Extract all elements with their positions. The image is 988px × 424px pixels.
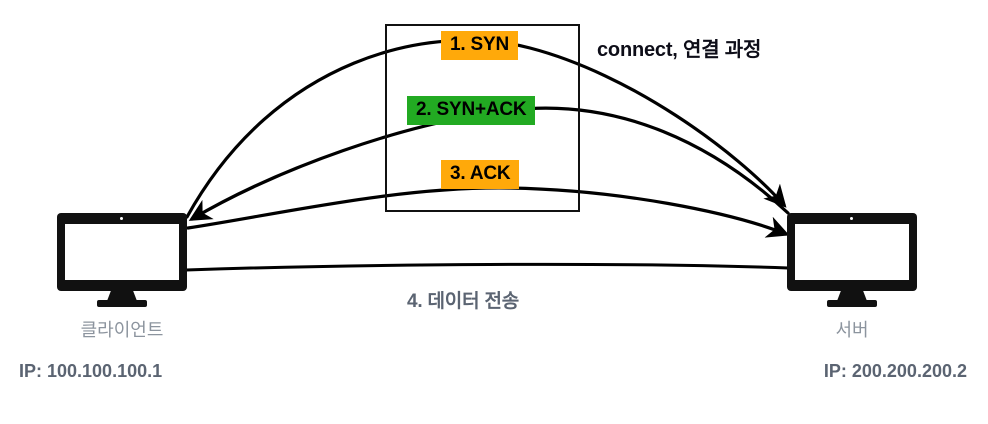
camera-dot-icon (850, 217, 853, 220)
desktop-monitor-icon (787, 213, 917, 305)
monitor-bezel (57, 213, 187, 291)
step-label-ack: 3. ACK (441, 160, 519, 189)
step-label-syn-ack: 2. SYN+ACK (407, 96, 535, 125)
tcp-handshake-diagram: 1. SYN 2. SYN+ACK 3. ACK connect, 연결 과정 … (0, 0, 988, 424)
server-name-label: 서버 (787, 316, 917, 342)
step-label-syn: 1. SYN (441, 31, 518, 60)
node-client: 클라이언트 IP: 100.100.100.1 (57, 213, 187, 305)
node-server: 서버 IP: 200.200.200.2 (787, 213, 917, 305)
monitor-screen (65, 224, 179, 280)
monitor-stand-base (97, 300, 147, 307)
server-ip-label: IP: 200.200.200.2 (727, 361, 967, 382)
client-name-label: 클라이언트 (57, 316, 187, 342)
monitor-screen (795, 224, 909, 280)
monitor-bezel (787, 213, 917, 291)
caption-connect-phase: connect, 연결 과정 (597, 33, 761, 62)
monitor-stand-base (827, 300, 877, 307)
camera-dot-icon (120, 217, 123, 220)
client-ip-label: IP: 100.100.100.1 (19, 361, 259, 382)
caption-data-transfer: 4. 데이터 전송 (407, 286, 519, 313)
desktop-monitor-icon (57, 213, 187, 305)
arrow-data-path (186, 264, 788, 270)
